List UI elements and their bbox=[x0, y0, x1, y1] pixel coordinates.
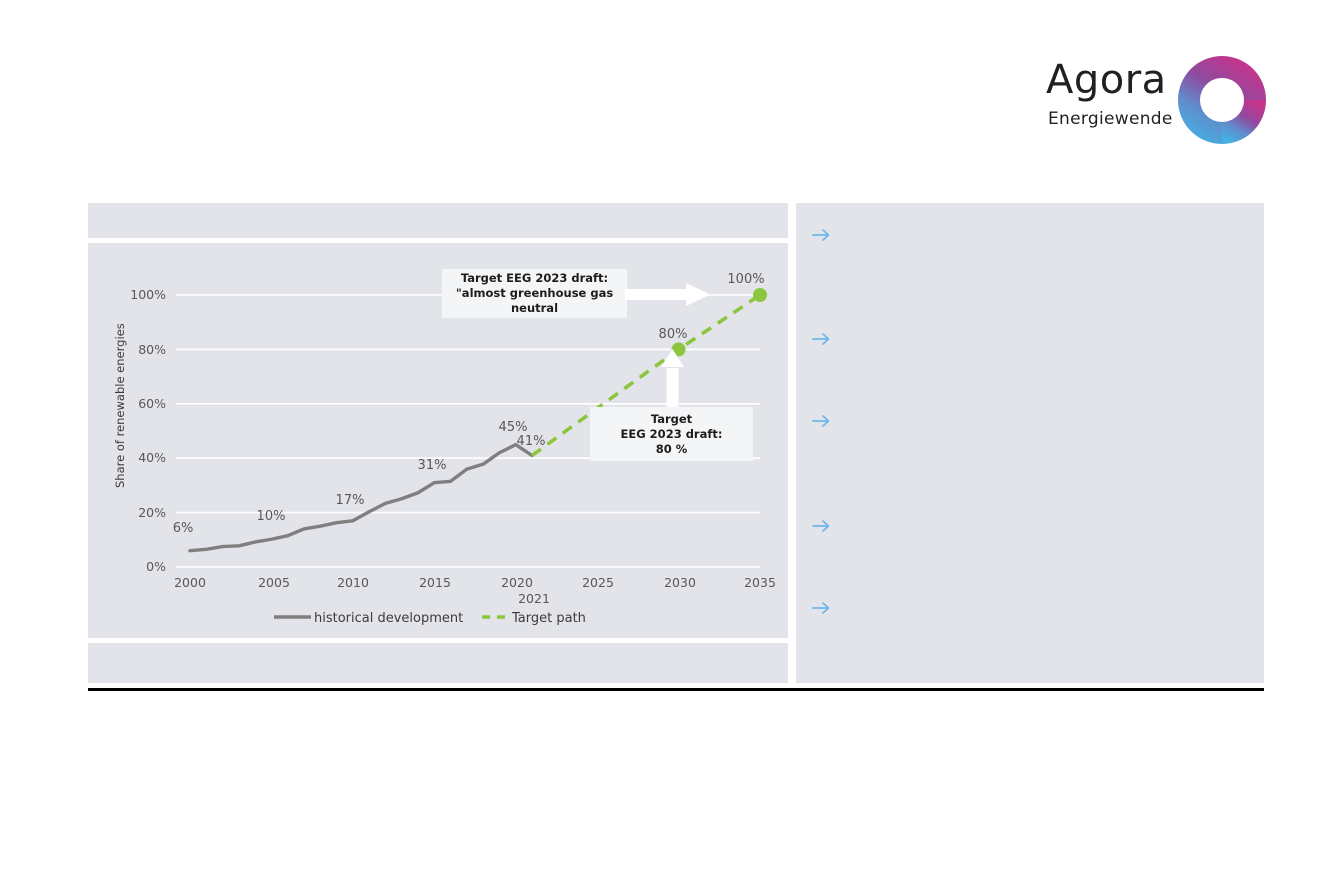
y-tick-label: 80% bbox=[138, 342, 166, 357]
agora-energiewende-logo: Agora Energiewende bbox=[1046, 56, 1266, 146]
agora-swirl-icon bbox=[1178, 56, 1266, 148]
slide-footer-placeholder-band bbox=[88, 643, 788, 683]
data-label: 41% bbox=[517, 434, 546, 449]
data-label: 45% bbox=[499, 420, 528, 435]
target-marker bbox=[753, 288, 767, 302]
legend-item-target[interactable]: Target path bbox=[482, 611, 586, 626]
y-tick-label: 40% bbox=[138, 450, 166, 465]
y-tick-label: 60% bbox=[138, 396, 166, 411]
list-item[interactable] bbox=[812, 597, 1242, 619]
y-tick-label: 0% bbox=[146, 559, 166, 574]
annotation-ghg-neutral-arrow-icon bbox=[625, 283, 710, 306]
y-axis-ticks: 100% 80% 60% 40% 20% 0% bbox=[130, 287, 166, 574]
annotation-line: neutral bbox=[511, 301, 558, 315]
data-label: 10% bbox=[257, 509, 286, 524]
legend-label: Target path bbox=[511, 611, 586, 626]
data-label: 100% bbox=[727, 272, 764, 287]
annotation-line: Target bbox=[651, 412, 693, 426]
list-item[interactable] bbox=[812, 515, 1242, 537]
y-tick-label: 20% bbox=[138, 505, 166, 520]
x-tick-label: 2035 bbox=[744, 575, 776, 590]
legend-item-historical[interactable]: historical development bbox=[274, 611, 463, 626]
chart-legend: historical development Target path bbox=[274, 611, 586, 626]
annotation-line: 80 % bbox=[656, 442, 688, 456]
x-tick-label: 2000 bbox=[174, 575, 206, 590]
x-tick-label: 2020 bbox=[501, 575, 533, 590]
annotation-line: Target EEG 2023 draft: bbox=[461, 271, 608, 285]
x-tick-label: 2025 bbox=[582, 575, 614, 590]
renewables-share-chart: 100% 80% 60% 40% 20% 0% Share of renewab… bbox=[88, 243, 788, 638]
arrow-right-icon bbox=[812, 600, 832, 616]
x-axis-ticks: 2000 2005 2010 2015 2020 2025 2030 2035 … bbox=[174, 575, 776, 606]
data-label: 31% bbox=[418, 458, 447, 473]
data-label: 80% bbox=[659, 327, 688, 342]
x-tick-label: 2015 bbox=[419, 575, 451, 590]
y-tick-label: 100% bbox=[130, 287, 166, 302]
slide-title-placeholder-band bbox=[88, 203, 788, 238]
x-tick-label: 2010 bbox=[337, 575, 369, 590]
x-tick-label: 2005 bbox=[258, 575, 290, 590]
logo-wordmark: Agora bbox=[1046, 60, 1167, 100]
arrow-right-icon bbox=[812, 227, 832, 243]
y-axis-title: Share of renewable energies bbox=[113, 323, 127, 488]
annotation-ghg-neutral: Target EEG 2023 draft: "almost greenhous… bbox=[442, 269, 710, 318]
list-item[interactable] bbox=[812, 224, 1242, 246]
x-tick-label: 2030 bbox=[664, 575, 696, 590]
annotation-line: "almost greenhouse gas bbox=[456, 286, 614, 300]
list-item[interactable] bbox=[812, 410, 1242, 432]
legend-label: historical development bbox=[314, 611, 463, 626]
arrow-right-icon bbox=[812, 331, 832, 347]
logo-subtitle: Energiewende bbox=[1048, 111, 1173, 128]
data-label: 6% bbox=[173, 521, 194, 536]
annotation-target-80: Target EEG 2023 draft: 80 % bbox=[590, 349, 753, 461]
list-item[interactable] bbox=[812, 328, 1242, 350]
x-tick-label-extra: 2021 bbox=[518, 591, 550, 606]
arrow-right-icon bbox=[812, 518, 832, 534]
data-label: 17% bbox=[336, 493, 365, 508]
arrow-right-icon bbox=[812, 413, 832, 429]
slide-bottom-rule bbox=[88, 688, 1264, 691]
annotation-line: EEG 2023 draft: bbox=[621, 427, 723, 441]
